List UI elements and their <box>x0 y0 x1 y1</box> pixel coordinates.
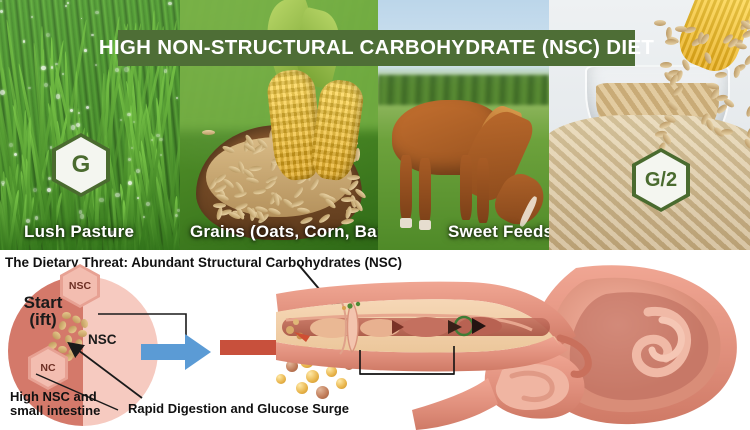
digestive-tract-illustration <box>276 250 750 430</box>
dew-drop <box>146 202 150 206</box>
dew-drop <box>46 33 50 37</box>
dew-drop <box>0 0 2 2</box>
horse-leg <box>477 158 489 223</box>
dew-drop <box>70 109 73 112</box>
dew-drop <box>99 198 103 202</box>
sphincter-valve <box>348 302 359 352</box>
dew-drop <box>33 188 37 192</box>
grain-seed <box>58 320 68 331</box>
badge-hexagon-g: G <box>52 133 110 197</box>
caption-grains: Grains (Oats, Corn, Barchoi) <box>190 222 378 242</box>
badge-letter: G <box>72 153 91 177</box>
grain-seed <box>62 312 71 319</box>
horse-leg <box>400 155 412 220</box>
dew-drop <box>115 193 119 197</box>
oat-grain <box>341 196 354 201</box>
dew-drop <box>79 210 82 213</box>
marker-dot <box>342 306 346 310</box>
grain-seed <box>80 318 89 329</box>
hexagon-face: NSC <box>63 267 97 305</box>
dew-drop <box>0 90 5 95</box>
dew-drop <box>176 97 178 99</box>
diagram-section: The Dietary Threat: Abundant Structural … <box>0 250 750 430</box>
process-arrow-icon <box>141 334 211 370</box>
dew-drop <box>137 197 139 199</box>
dew-drop <box>160 154 162 156</box>
dew-drop <box>48 177 51 180</box>
label-high-nsc: High NSC and small intestine <box>10 390 100 417</box>
dew-drop <box>159 138 162 141</box>
badge-hexagon-g2: G/2 <box>632 148 690 212</box>
dew-drop <box>55 63 57 65</box>
feed-particle <box>286 326 294 334</box>
dew-drop <box>51 66 53 68</box>
feed-pellet <box>675 26 687 32</box>
oat-grain <box>213 203 226 208</box>
oat-grain <box>347 174 360 179</box>
caption-sweet-feeds: Sweet Feeds. <box>448 222 549 242</box>
dew-drop <box>84 49 87 52</box>
dew-drop <box>41 66 45 70</box>
horse-hoof <box>400 218 412 228</box>
dew-drop <box>9 143 13 147</box>
horse-leg <box>460 155 472 220</box>
horse-leg <box>419 158 431 223</box>
intestinal-segment <box>402 317 450 337</box>
horse-hoof <box>419 220 431 230</box>
oat-grain <box>202 130 215 135</box>
dew-drop <box>164 69 168 73</box>
feed-particle <box>293 319 299 325</box>
feed-pellet <box>654 20 666 26</box>
label-high-nsc-line2: small intestine <box>10 403 100 418</box>
page-title: HIGH NON-STRUCTURAL CARBOHYDRATE (NSC) D… <box>99 36 654 60</box>
title-banner: HIGH NON-STRUCTURAL CARBOHYDRATE (NSC) D… <box>118 30 635 66</box>
dew-drop <box>0 10 2 12</box>
red-bar-indicator <box>220 340 276 355</box>
marker-dot <box>356 302 360 306</box>
marker-dot <box>347 303 352 308</box>
badge-letter: G/2 <box>645 170 677 190</box>
infographic-root: Lush Pasture Grains (Oats, Corn, Barchoi… <box>0 0 750 430</box>
hexagon-nsc-label: NSC <box>69 280 91 292</box>
caption-lush-pasture: Lush Pasture <box>24 222 134 242</box>
dew-drop <box>44 83 48 87</box>
descending-tract <box>412 378 498 430</box>
dew-drop <box>124 67 128 71</box>
